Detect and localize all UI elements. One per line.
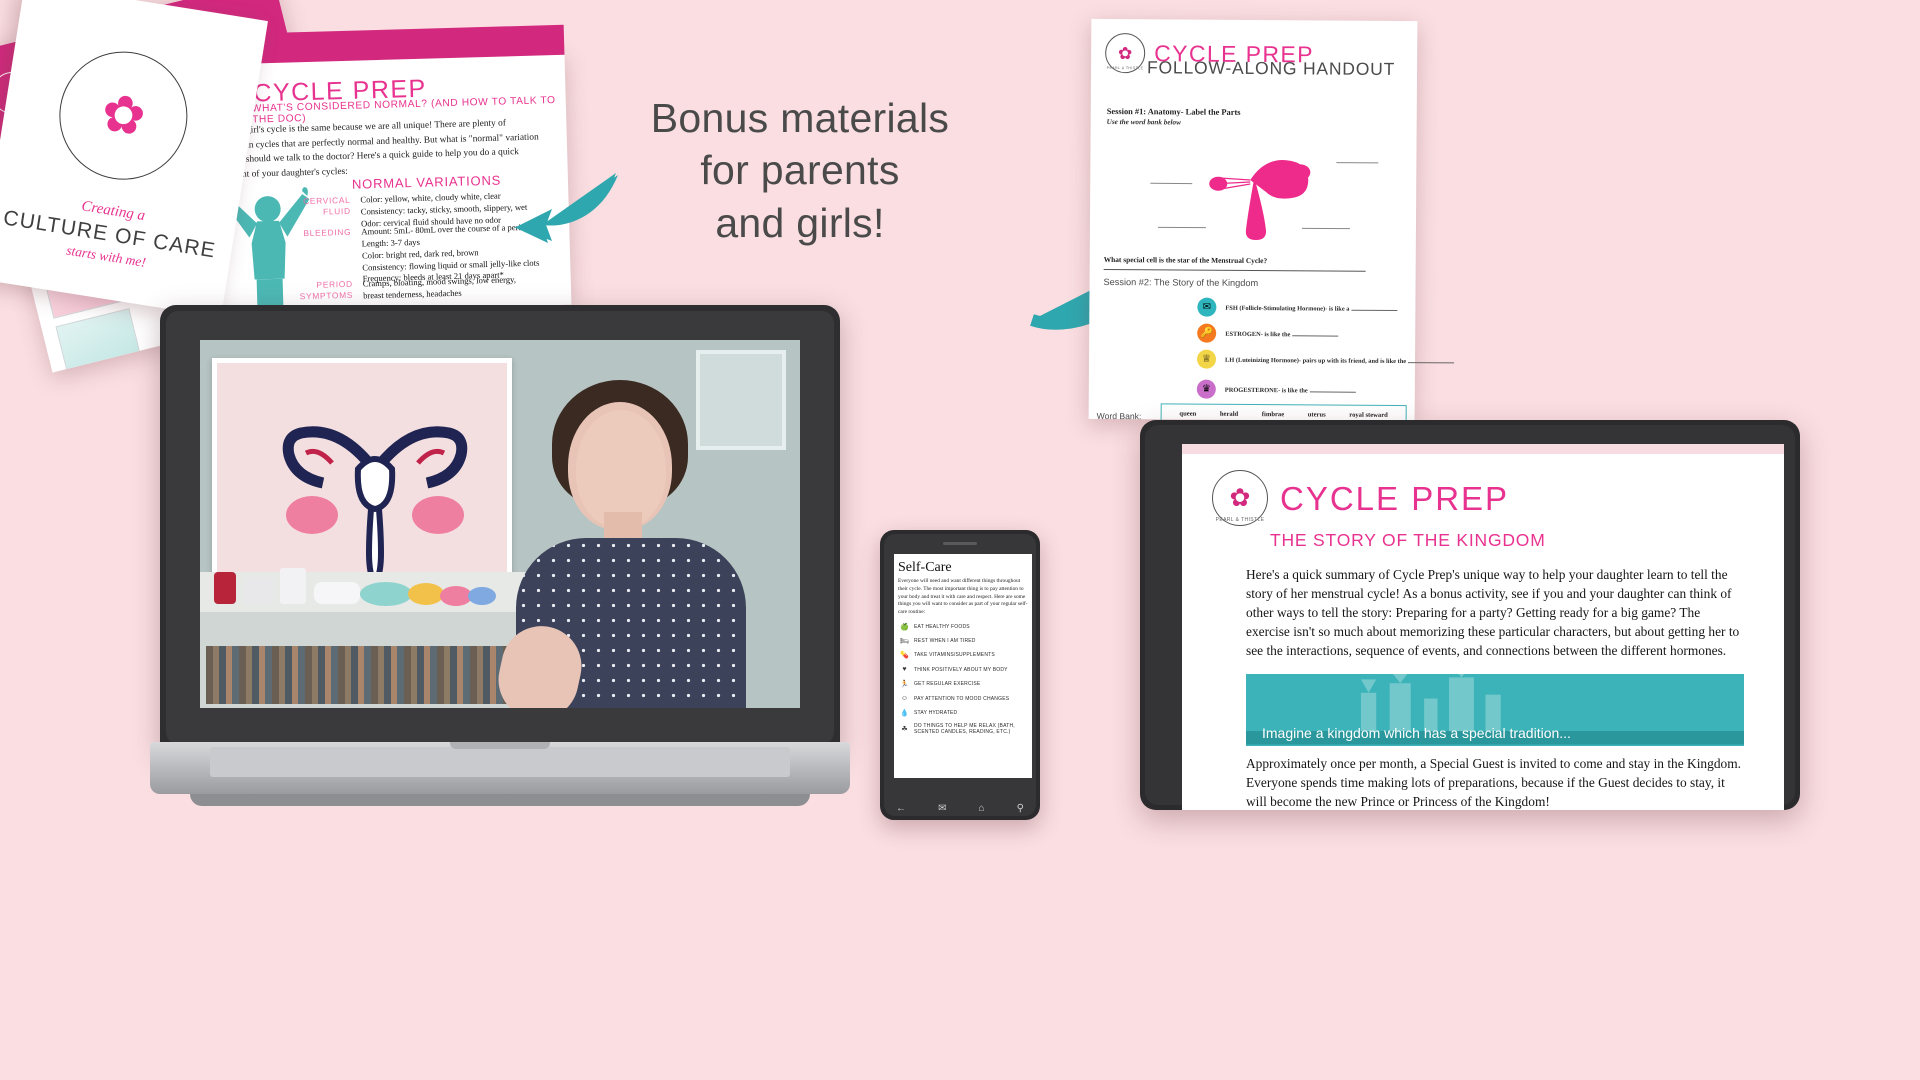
handout-session1-heading: Session #1: Anatomy- Label the Parts	[1107, 107, 1241, 117]
key-icon: 🔑	[1197, 324, 1216, 343]
hormone-row: ♕ LH (Luteinizing Hormone)- pairs up wit…	[1197, 350, 1456, 371]
tablet-doc-body: Here's a quick summary of Cycle Prep's u…	[1246, 565, 1744, 660]
bookshelf	[200, 612, 530, 708]
thistle-circle-logo-icon: ✿	[50, 42, 196, 188]
hormone-label: ESTROGEN- is like the	[1225, 329, 1340, 339]
hormone-row: 🔑 ESTROGEN- is like the	[1197, 324, 1340, 344]
thistle-glyph: ✿	[97, 83, 149, 149]
phone-screen[interactable]: Self-Care Everyone will need and want di…	[894, 554, 1032, 778]
row-label: PERIOD SYMPTOMS	[291, 279, 354, 304]
selfcare-list-item: ☺ PAY ATTENTION TO MOOD CHANGES	[900, 694, 1028, 703]
logo-ring-text: PEARL & THISTLE	[1106, 66, 1144, 70]
selfcare-list-item: 🛏 REST WHEN I AM TIRED	[900, 637, 1028, 646]
item-label: DO THINGS TO HELP ME RELAX (BATH, SCENTE…	[914, 723, 1028, 735]
back-icon[interactable]: ←	[896, 803, 906, 814]
tablet-doc-subtitle: THE STORY OF THE KINGDOM	[1270, 530, 1784, 551]
selfcare-list-item: ♥ THINK POSITIVELY ABOUT MY BODY	[900, 665, 1028, 674]
tablet-screen[interactable]: ✿ PEARL & THISTLE CYCLE PREP THE STORY O…	[1182, 444, 1784, 810]
presenter-face	[576, 410, 666, 528]
hormone-row: ♛ PROGESTERONE- is like the	[1197, 380, 1358, 400]
laptop-notch	[450, 742, 550, 749]
mail-icon[interactable]: ✉	[938, 803, 946, 814]
uterus-poster-diagram-icon	[272, 411, 478, 591]
handout-subtitle: FOLLOW-ALONG HANDOUT	[1147, 57, 1395, 80]
item-label: PAY ATTENTION TO MOOD CHANGES	[914, 696, 1009, 702]
item-label: REST WHEN I AM TIRED	[914, 638, 976, 644]
tablet-doc-header: ✿ PEARL & THISTLE CYCLE PREP	[1182, 454, 1784, 526]
laptop-lid	[160, 305, 840, 750]
castle-banner-text: Imagine a kingdom which has a special tr…	[1262, 725, 1571, 741]
thistle-glyph: ✿	[1118, 45, 1132, 62]
word-bank-word: queen	[1179, 410, 1196, 417]
laptop-device	[150, 305, 850, 825]
run-icon: 🏃	[900, 680, 909, 689]
item-label: EAT HEALTHY FOODS	[914, 624, 970, 630]
headline-text: Bonus materials for parents and girls!	[600, 92, 1000, 249]
thistle-logo-icon: ✿ PEARL & THISTLE	[1105, 33, 1145, 73]
castle-banner: Imagine a kingdom which has a special tr…	[1246, 674, 1744, 746]
hormone-row: ✉ FSH (Follicle-Stimulating Hormone)- is…	[1197, 298, 1399, 318]
row-value: Cramps, bloating, mood swings, low energ…	[363, 272, 594, 302]
handout-session1-note: Use the word bank below	[1107, 118, 1181, 127]
relax-icon: ☘	[900, 724, 909, 733]
laptop-foot	[190, 794, 810, 806]
laptop-keyboard[interactable]	[210, 747, 790, 777]
envelope-heart-icon: ✉	[1197, 298, 1216, 317]
item-label: THINK POSITIVELY ABOUT MY BODY	[914, 667, 1008, 673]
selfcare-list-item: 💊 TAKE VITAMINS/SUPPLEMENTS	[900, 651, 1028, 660]
word-bank-label: Word Bank:	[1097, 411, 1142, 421]
card-culture-of-care: ✿ Creating a CULTURE OF CARE starts with…	[0, 0, 268, 317]
demo-supplies	[210, 566, 510, 608]
item-label: GET REGULAR EXERCISE	[914, 681, 980, 687]
uterus-diagram-icon	[1150, 131, 1381, 243]
handout-question: What special cell is the star of the Men…	[1104, 255, 1268, 265]
selfcare-body: Everyone will need and want different th…	[898, 578, 1028, 617]
video-frame[interactable]	[200, 340, 800, 708]
selfcare-list-item: 💧 STAY HYDRATED	[900, 708, 1028, 717]
phone-device: Self-Care Everyone will need and want di…	[880, 530, 1040, 820]
answer-blank-line	[1104, 269, 1366, 272]
doc-normal-section-heading: NORMAL VARIATIONS	[352, 173, 502, 192]
page-top-band	[1182, 444, 1784, 454]
selfcare-list-item: ☘ DO THINGS TO HELP ME RELAX (BATH, SCEN…	[900, 723, 1028, 735]
book-cover-thumb	[55, 308, 143, 372]
logo-ring-text: PEARL & THISTLE	[1213, 517, 1267, 523]
home-icon[interactable]: ⌂	[979, 803, 985, 814]
selfcare-list-item: 🏃 GET REGULAR EXERCISE	[900, 680, 1028, 689]
phone-speaker	[943, 542, 977, 545]
thistle-logo-icon: ✿ PEARL & THISTLE	[1212, 470, 1268, 526]
heart-icon: ♥	[900, 665, 909, 674]
hormone-label: PROGESTERONE- is like the	[1225, 385, 1358, 395]
phone-nav-bar[interactable]: ← ✉ ⌂ ⚲	[880, 803, 1040, 814]
window	[696, 350, 786, 450]
laptop-screen[interactable]	[200, 340, 800, 708]
tablet-doc-body2: Approximately once per month, a Special …	[1246, 754, 1744, 810]
hormone-label: LH (Luteinizing Hormone)- pairs up with …	[1225, 355, 1456, 366]
thistle-glyph: ✿	[1230, 486, 1251, 511]
word-bank-word: uterus	[1308, 411, 1326, 418]
apple-icon: 🍏	[900, 622, 909, 631]
headline-line-2: for parents	[600, 144, 1000, 196]
headline-line-3: and girls!	[600, 197, 1000, 249]
books-row	[206, 646, 524, 704]
selfcare-list-item: 🍏 EAT HEALTHY FOODS	[900, 622, 1028, 631]
item-label: TAKE VITAMINS/SUPPLEMENTS	[914, 652, 995, 658]
poster-canvas: CYCLE PREP BOOK RECOMMENDATIONS FOR GIRL…	[0, 0, 1920, 1080]
mood-icon: ☺	[900, 694, 909, 703]
word-bank-word: herald	[1220, 411, 1238, 418]
handout-session2-heading: Session #2: The Story of the Kingdom	[1104, 277, 1259, 288]
word-bank-word: royal steward	[1349, 412, 1388, 419]
selfcare-title: Self-Care	[898, 560, 1032, 576]
word-bank-word: fimbrae	[1262, 411, 1284, 418]
water-icon: 💧	[900, 708, 909, 717]
item-label: STAY HYDRATED	[914, 710, 957, 716]
tablet-doc-title: CYCLE PREP	[1280, 482, 1509, 515]
document-followalong-handout: ✿ PEARL & THISTLE CYCLE PREP FOLLOW-ALON…	[1089, 19, 1418, 421]
hormone-label: FSH (Follicle-Stimulating Hormone)- is l…	[1225, 303, 1399, 313]
bed-icon: 🛏	[900, 637, 909, 646]
search-icon[interactable]: ⚲	[1017, 803, 1024, 814]
crown-icon: ♕	[1197, 350, 1216, 369]
queen-icon: ♛	[1197, 380, 1216, 399]
pill-icon: 💊	[900, 651, 909, 660]
tablet-device: ✿ PEARL & THISTLE CYCLE PREP THE STORY O…	[1140, 420, 1800, 810]
arrow-left-icon	[512, 165, 622, 245]
headline-line-1: Bonus materials	[600, 92, 1000, 144]
